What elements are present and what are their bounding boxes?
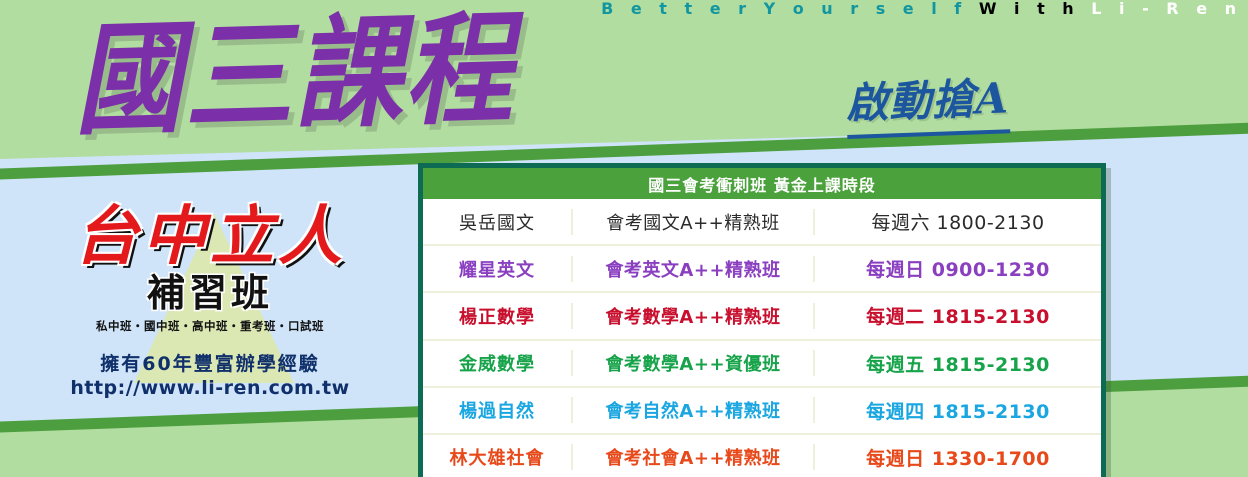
logo-departments: 私中班・國中班・高中班・重考班・口試班 xyxy=(30,318,390,334)
table-row: 林大雄社會會考社會A++精熟班每週日 1330-1700 xyxy=(423,435,1101,477)
cell-teacher: 耀星英文 xyxy=(423,256,573,282)
cell-course: 會考數學A++資優班 xyxy=(573,350,815,376)
cell-teacher: 吳岳國文 xyxy=(423,209,573,235)
logo-block: 台中立人 補習班 私中班・國中班・高中班・重考班・口試班 擁有60年豐富辦學經驗… xyxy=(30,205,390,399)
cell-course: 會考英文A++精熟班 xyxy=(573,256,815,282)
schedule-table: 國三會考衝刺班 黃金上課時段 吳岳國文會考國文A++精熟班每週六 1800-21… xyxy=(418,163,1106,477)
cell-course: 會考國文A++精熟班 xyxy=(573,209,815,235)
schedule-table-header: 國三會考衝刺班 黃金上課時段 xyxy=(423,168,1101,199)
page-title: 國三課程 xyxy=(72,0,516,151)
schedule-table-body: 吳岳國文會考國文A++精熟班每週六 1800-2130耀星英文會考英文A++精熟… xyxy=(423,199,1101,477)
cell-course: 會考社會A++精熟班 xyxy=(573,444,815,470)
logo-type: 補習班 xyxy=(30,271,390,315)
table-row: 楊過自然會考自然A++精熟班每週四 1815-2130 xyxy=(423,388,1101,435)
cell-time: 每週四 1815-2130 xyxy=(815,397,1101,424)
cell-teacher: 金威數學 xyxy=(423,350,573,376)
cell-time: 每週六 1800-2130 xyxy=(815,208,1101,235)
tagline-part-3: L i - R e n xyxy=(1091,0,1242,18)
cell-time: 每週五 1815-2130 xyxy=(815,350,1101,377)
table-row: 楊正數學會考數學A++精熟班每週二 1815-2130 xyxy=(423,293,1101,340)
tagline-part-1: B e t t e r Y o u r s e l f xyxy=(601,0,979,18)
table-row: 耀星英文會考英文A++精熟班每週日 0900-1230 xyxy=(423,246,1101,293)
cell-teacher: 楊正數學 xyxy=(423,303,573,329)
cell-time: 每週日 0900-1230 xyxy=(815,255,1101,282)
cell-teacher: 林大雄社會 xyxy=(423,444,573,470)
tagline-part-2: W i t h xyxy=(979,0,1091,18)
poster-root: B e t t e r Y o u r s e l f W i t h L i … xyxy=(0,0,1248,477)
cell-course: 會考自然A++精熟班 xyxy=(573,397,815,423)
page-subtitle: 啟動搶A xyxy=(845,64,1010,139)
logo-name: 台中立人 xyxy=(30,205,390,269)
table-row: 金威數學會考數學A++資優班每週五 1815-2130 xyxy=(423,341,1101,388)
logo-website-url[interactable]: http://www.li-ren.com.tw xyxy=(30,377,390,399)
cell-time: 每週日 1330-1700 xyxy=(815,444,1101,471)
cell-course: 會考數學A++精熟班 xyxy=(573,303,815,329)
table-row: 吳岳國文會考國文A++精熟班每週六 1800-2130 xyxy=(423,199,1101,246)
tagline: B e t t e r Y o u r s e l f W i t h L i … xyxy=(601,0,1242,18)
cell-time: 每週二 1815-2130 xyxy=(815,302,1101,329)
logo-experience: 擁有60年豐富辦學經驗 xyxy=(30,349,390,376)
cell-teacher: 楊過自然 xyxy=(423,397,573,423)
